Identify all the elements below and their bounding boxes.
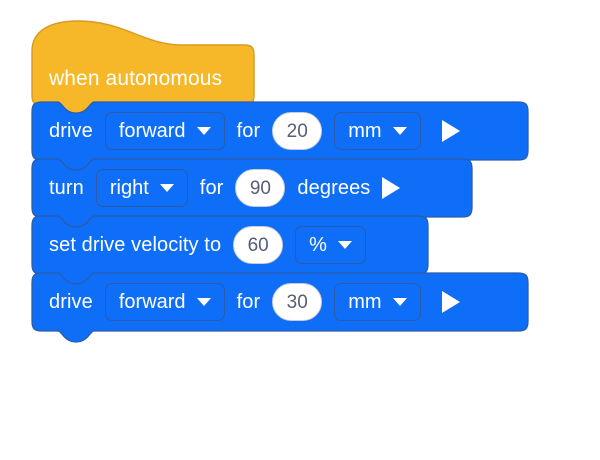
play-arrow-icon[interactable] <box>442 120 460 142</box>
play-arrow-icon[interactable] <box>442 291 460 313</box>
block-label-drive: drive <box>49 292 93 312</box>
block-label-for: for <box>200 178 224 198</box>
block-label-degrees: degrees <box>297 178 370 198</box>
input-drive-velocity[interactable]: 60 <box>233 226 283 264</box>
block-label-drive: drive <box>49 121 93 141</box>
block-turn-right-90-degrees[interactable]: turn right for 90 degrees <box>32 159 472 217</box>
input-drive-distance[interactable]: 30 <box>272 283 322 321</box>
input-drive-distance[interactable]: 20 <box>272 112 322 150</box>
dropdown-drive-direction-value: forward <box>119 121 186 141</box>
chevron-down-icon <box>197 127 211 135</box>
dropdown-drive-unit[interactable]: mm <box>334 283 420 321</box>
dropdown-turn-direction[interactable]: right <box>96 169 188 207</box>
block-label-turn: turn <box>49 178 84 198</box>
block-label-set-drive-velocity-to: set drive velocity to <box>49 235 221 255</box>
chevron-down-icon <box>393 127 407 135</box>
script-stack[interactable]: when autonomous drive forward for 20 <box>32 22 528 331</box>
dropdown-drive-direction-value: forward <box>119 292 186 312</box>
dropdown-velocity-unit[interactable]: % <box>295 226 366 264</box>
dropdown-drive-unit-value: mm <box>348 121 381 141</box>
block-label-for: for <box>237 292 261 312</box>
dropdown-drive-unit[interactable]: mm <box>334 112 420 150</box>
play-arrow-icon[interactable] <box>382 177 400 199</box>
dropdown-velocity-unit-value: % <box>309 235 327 255</box>
chevron-down-icon <box>160 184 174 192</box>
block-set-drive-velocity[interactable]: set drive velocity to 60 % <box>32 216 428 274</box>
block-when-autonomous[interactable]: when autonomous <box>32 21 254 103</box>
dropdown-turn-direction-value: right <box>110 178 149 198</box>
dropdown-drive-direction[interactable]: forward <box>105 112 225 150</box>
block-workspace[interactable]: when autonomous drive forward for 20 <box>0 0 600 460</box>
chevron-down-icon <box>393 298 407 306</box>
block-drive-forward-30mm[interactable]: drive forward for 30 mm <box>32 273 528 331</box>
hat-block-label: when autonomous <box>49 68 222 89</box>
dropdown-drive-unit-value: mm <box>348 292 381 312</box>
chevron-down-icon <box>338 241 352 249</box>
block-drive-forward-20mm[interactable]: drive forward for 20 mm <box>32 102 528 160</box>
block-label-for: for <box>237 121 261 141</box>
input-turn-angle[interactable]: 90 <box>235 169 285 207</box>
dropdown-drive-direction[interactable]: forward <box>105 283 225 321</box>
chevron-down-icon <box>197 298 211 306</box>
